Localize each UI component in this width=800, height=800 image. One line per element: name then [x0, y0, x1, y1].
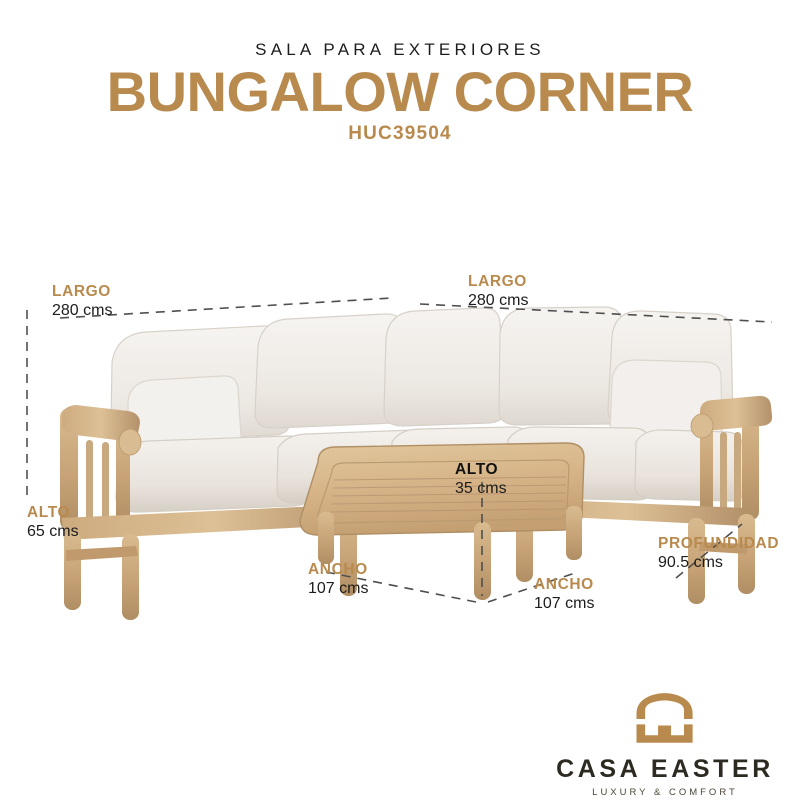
dimension-value: 107 cms [534, 594, 594, 614]
product-image [0, 250, 800, 670]
dimension-value: 90.5 cms [658, 553, 779, 573]
dimension-label: ANCHO [308, 560, 368, 579]
dimension-callout-profundidad: PROFUNDIDAD 90.5 cms [658, 534, 779, 573]
dimension-value: 107 cms [308, 579, 368, 599]
page-title: BUNGALOW CORNER [0, 62, 800, 122]
dimension-callout-alto-table: ALTO 35 cms [455, 460, 507, 499]
dimension-label: ALTO [455, 460, 507, 479]
dimension-value: 280 cms [468, 291, 528, 311]
dimension-value: 35 cms [455, 479, 507, 499]
house-logo-icon [630, 692, 699, 746]
dimension-label: ALTO [27, 503, 79, 522]
product-sku: HUC39504 [0, 123, 800, 145]
dimension-label: ANCHO [534, 575, 594, 594]
dimension-label: LARGO [52, 282, 112, 301]
brand-tagline: LUXURY & COMFORT [540, 786, 790, 800]
dimension-callout-alto-sofa: ALTO 65 cms [27, 503, 79, 542]
dimension-callout-largo-right: LARGO 280 cms [468, 272, 528, 311]
dimension-value: 280 cms [52, 301, 112, 321]
dimension-label: PROFUNDIDAD [658, 534, 779, 553]
dimension-callout-largo-left: LARGO 280 cms [52, 282, 112, 321]
dimension-callout-ancho-left: ANCHO 107 cms [308, 560, 368, 599]
brand-name: CASA EASTER [540, 755, 790, 783]
dimension-label: LARGO [468, 272, 528, 291]
brand-logo: CASA EASTER LUXURY & COMFORT [540, 692, 790, 800]
dimension-value: 65 cms [27, 522, 79, 542]
dimension-callout-ancho-right: ANCHO 107 cms [534, 575, 594, 614]
page-header: SALA PARA EXTERIORES BUNGALOW CORNER HUC… [0, 0, 800, 145]
category-eyebrow: SALA PARA EXTERIORES [0, 40, 800, 60]
